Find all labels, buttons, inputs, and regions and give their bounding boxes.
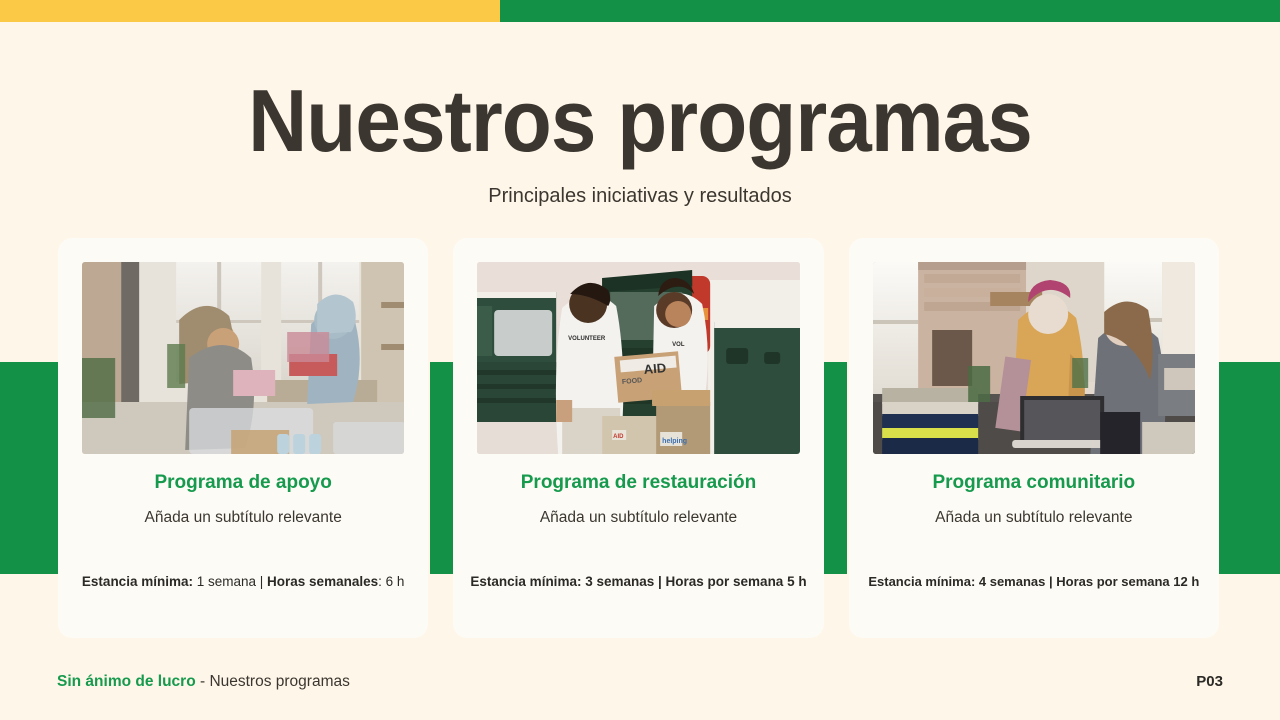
card-title: Programa comunitario (849, 472, 1219, 494)
slide-canvas: Nuestros programas Principales iniciativ… (0, 0, 1280, 720)
program-card[interactable]: AID FOOD helping AID VOLUNTEER VOL Progr… (453, 238, 823, 638)
svg-text:helping: helping (662, 438, 687, 445)
svg-text:VOLUNTEER: VOLUNTEER (568, 336, 606, 342)
card-meta: Estancia mínima: 1 semana | Horas semana… (58, 574, 428, 589)
card-photo-food-aid-van: AID FOOD helping AID VOLUNTEER VOL (477, 262, 799, 454)
card-subtitle: Añada un subtítulo relevante (849, 509, 1219, 527)
page-number: P03 (1196, 673, 1223, 690)
footer-section: - Nuestros programas (196, 673, 350, 690)
page-title: Nuestros programas (45, 78, 1235, 164)
card-title: Programa de restauración (453, 472, 823, 494)
program-card-list: Programa de apoyo Añada un subtítulo rel… (58, 238, 1219, 638)
top-accent-bar-green (500, 0, 1280, 22)
card-meta-separator: | (260, 574, 267, 589)
card-meta-text: Estancia mínima: 3 semanas | Horas por s… (470, 574, 806, 589)
card-meta-label-hours: Horas semanales (267, 574, 378, 589)
card-photo-volunteers-sorting-clothes (82, 262, 404, 454)
card-meta-value-hours: : 6 h (378, 574, 404, 589)
program-card[interactable]: Programa comunitario Añada un subtítulo … (849, 238, 1219, 638)
green-band-left (0, 362, 58, 574)
footer-brand: Sin ánimo de lucro (57, 673, 196, 690)
svg-text:AID: AID (613, 434, 624, 440)
card-meta: Estancia mínima: 3 semanas | Horas por s… (453, 574, 823, 589)
page-subtitle: Principales iniciativas y resultados (0, 185, 1280, 208)
card-meta: Estancia mínima: 4 semanas | Horas por s… (849, 574, 1219, 589)
card-subtitle: Añada un subtítulo relevante (453, 509, 823, 527)
card-title: Programa de apoyo (58, 472, 428, 494)
card-photo-workspace-laptop-clothes (873, 262, 1195, 454)
card-meta-value-stay: 1 semana (193, 574, 260, 589)
card-subtitle: Añada un subtítulo relevante (58, 509, 428, 527)
card-meta-text: Estancia mínima: 4 semanas | Horas por s… (868, 574, 1199, 589)
svg-text:AID: AID (643, 360, 667, 377)
top-accent-bar-yellow (0, 0, 500, 22)
green-band-right (1219, 362, 1280, 574)
program-card[interactable]: Programa de apoyo Añada un subtítulo rel… (58, 238, 428, 638)
footer-caption: Sin ánimo de lucro - Nuestros programas (57, 673, 350, 691)
card-meta-label-stay: Estancia mínima: (82, 574, 193, 589)
svg-text:VOL: VOL (672, 342, 685, 348)
